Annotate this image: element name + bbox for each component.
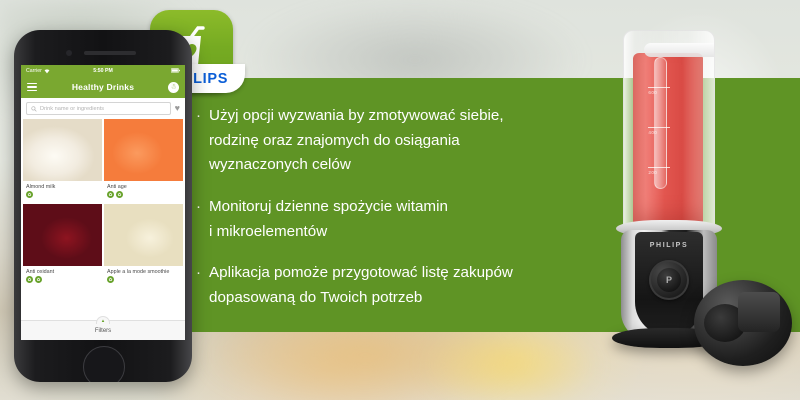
blender-power-knob[interactable]: P <box>649 260 689 300</box>
search-row: Drink name or ingredients ♥ <box>21 98 185 119</box>
iphone-device: Carrier 5:50 PM Healthy Drinks ☃ <box>14 30 192 382</box>
bullet-text: Użyj opcji wyzwania by zmotywować siebie… <box>209 104 626 178</box>
leaf-icon: ✿ <box>26 191 33 198</box>
bullet-marker-icon: · <box>196 195 209 244</box>
drinks-grid: Almond milk ✿ Anti age ✿ ✿ Anti oxidant … <box>21 119 185 287</box>
bullet-item: · Aplikacja pomoże przygotować listę zak… <box>196 261 626 310</box>
phone-screen: Carrier 5:50 PM Healthy Drinks ☃ <box>21 65 185 340</box>
filters-label: Filters <box>95 328 111 334</box>
list-item[interactable]: Anti oxidant ✿ ✿ <box>23 204 102 287</box>
drink-icon[interactable]: ☃ <box>168 82 179 93</box>
list-item[interactable]: Anti age ✿ ✿ <box>104 119 183 202</box>
blade-unit-tab <box>738 292 780 332</box>
smoothie-contents: 600 400 200 <box>633 53 703 225</box>
earpiece-speaker <box>84 51 136 55</box>
search-icon <box>31 106 37 112</box>
philips-blender-product: 600 400 200 PHILIPS P <box>600 12 800 400</box>
drink-photo <box>104 119 183 181</box>
blender-brand-label: PHILIPS <box>635 242 703 249</box>
drink-label: Apple a la mode smoothie <box>104 266 183 276</box>
bullet-text: Monitoruj dzienne spożycie witamin i mik… <box>209 195 626 244</box>
leaf-icon: ✿ <box>116 191 123 198</box>
list-item[interactable]: Apple a la mode smoothie ✿ <box>104 204 183 287</box>
app-title: Healthy Drinks <box>21 82 185 92</box>
drink-photo <box>104 204 183 266</box>
home-button[interactable] <box>83 346 125 382</box>
jar-lid <box>644 43 715 57</box>
blender-base-face: PHILIPS P <box>635 232 703 336</box>
drink-photo <box>23 204 102 266</box>
leaf-icon: ✿ <box>26 276 33 283</box>
drink-badges: ✿ <box>23 191 102 202</box>
leaf-icon: ✿ <box>35 276 42 283</box>
drink-label: Almond milk <box>23 181 102 191</box>
bullet-list: · Użyj opcji wyzwania by zmotywować sieb… <box>196 104 626 310</box>
background-blur-lemon <box>420 320 600 400</box>
bullet-item: · Monitoruj dzienne spożycie witamin i m… <box>196 195 626 244</box>
blender-blade-unit <box>694 280 792 366</box>
leaf-icon: ✿ <box>107 191 114 198</box>
chevron-up-icon[interactable]: ▴ <box>96 316 110 324</box>
bullet-marker-icon: · <box>196 104 209 178</box>
drink-label: Anti age <box>104 181 183 191</box>
app-header: Healthy Drinks ☃ <box>21 76 185 98</box>
search-input[interactable]: Drink name or ingredients <box>26 102 171 115</box>
drink-label: Anti oxidant <box>23 266 102 276</box>
jar-inner-highlight <box>654 57 667 189</box>
front-camera-icon <box>66 50 72 56</box>
bullet-marker-icon: · <box>196 261 209 310</box>
search-placeholder: Drink name or ingredients <box>40 106 104 112</box>
bullet-text: Aplikacja pomoże przygotować listę zakup… <box>209 261 626 310</box>
drink-badges: ✿ ✿ <box>23 276 102 287</box>
status-time: 5:50 PM <box>21 68 185 74</box>
blender-knob-label: P <box>657 268 681 292</box>
list-item[interactable]: Almond milk ✿ <box>23 119 102 202</box>
status-bar: Carrier 5:50 PM <box>21 65 185 76</box>
drink-photo <box>23 119 102 181</box>
drink-badges: ✿ ✿ <box>104 191 183 202</box>
heart-icon[interactable]: ♥ <box>175 104 180 113</box>
leaf-icon: ✿ <box>107 276 114 283</box>
filters-bar[interactable]: ▴ Filters <box>21 320 185 340</box>
blender-jar: 600 400 200 <box>623 30 715 230</box>
drink-badges: ✿ <box>104 276 183 287</box>
bullet-item: · Użyj opcji wyzwania by zmotywować sieb… <box>196 104 626 178</box>
